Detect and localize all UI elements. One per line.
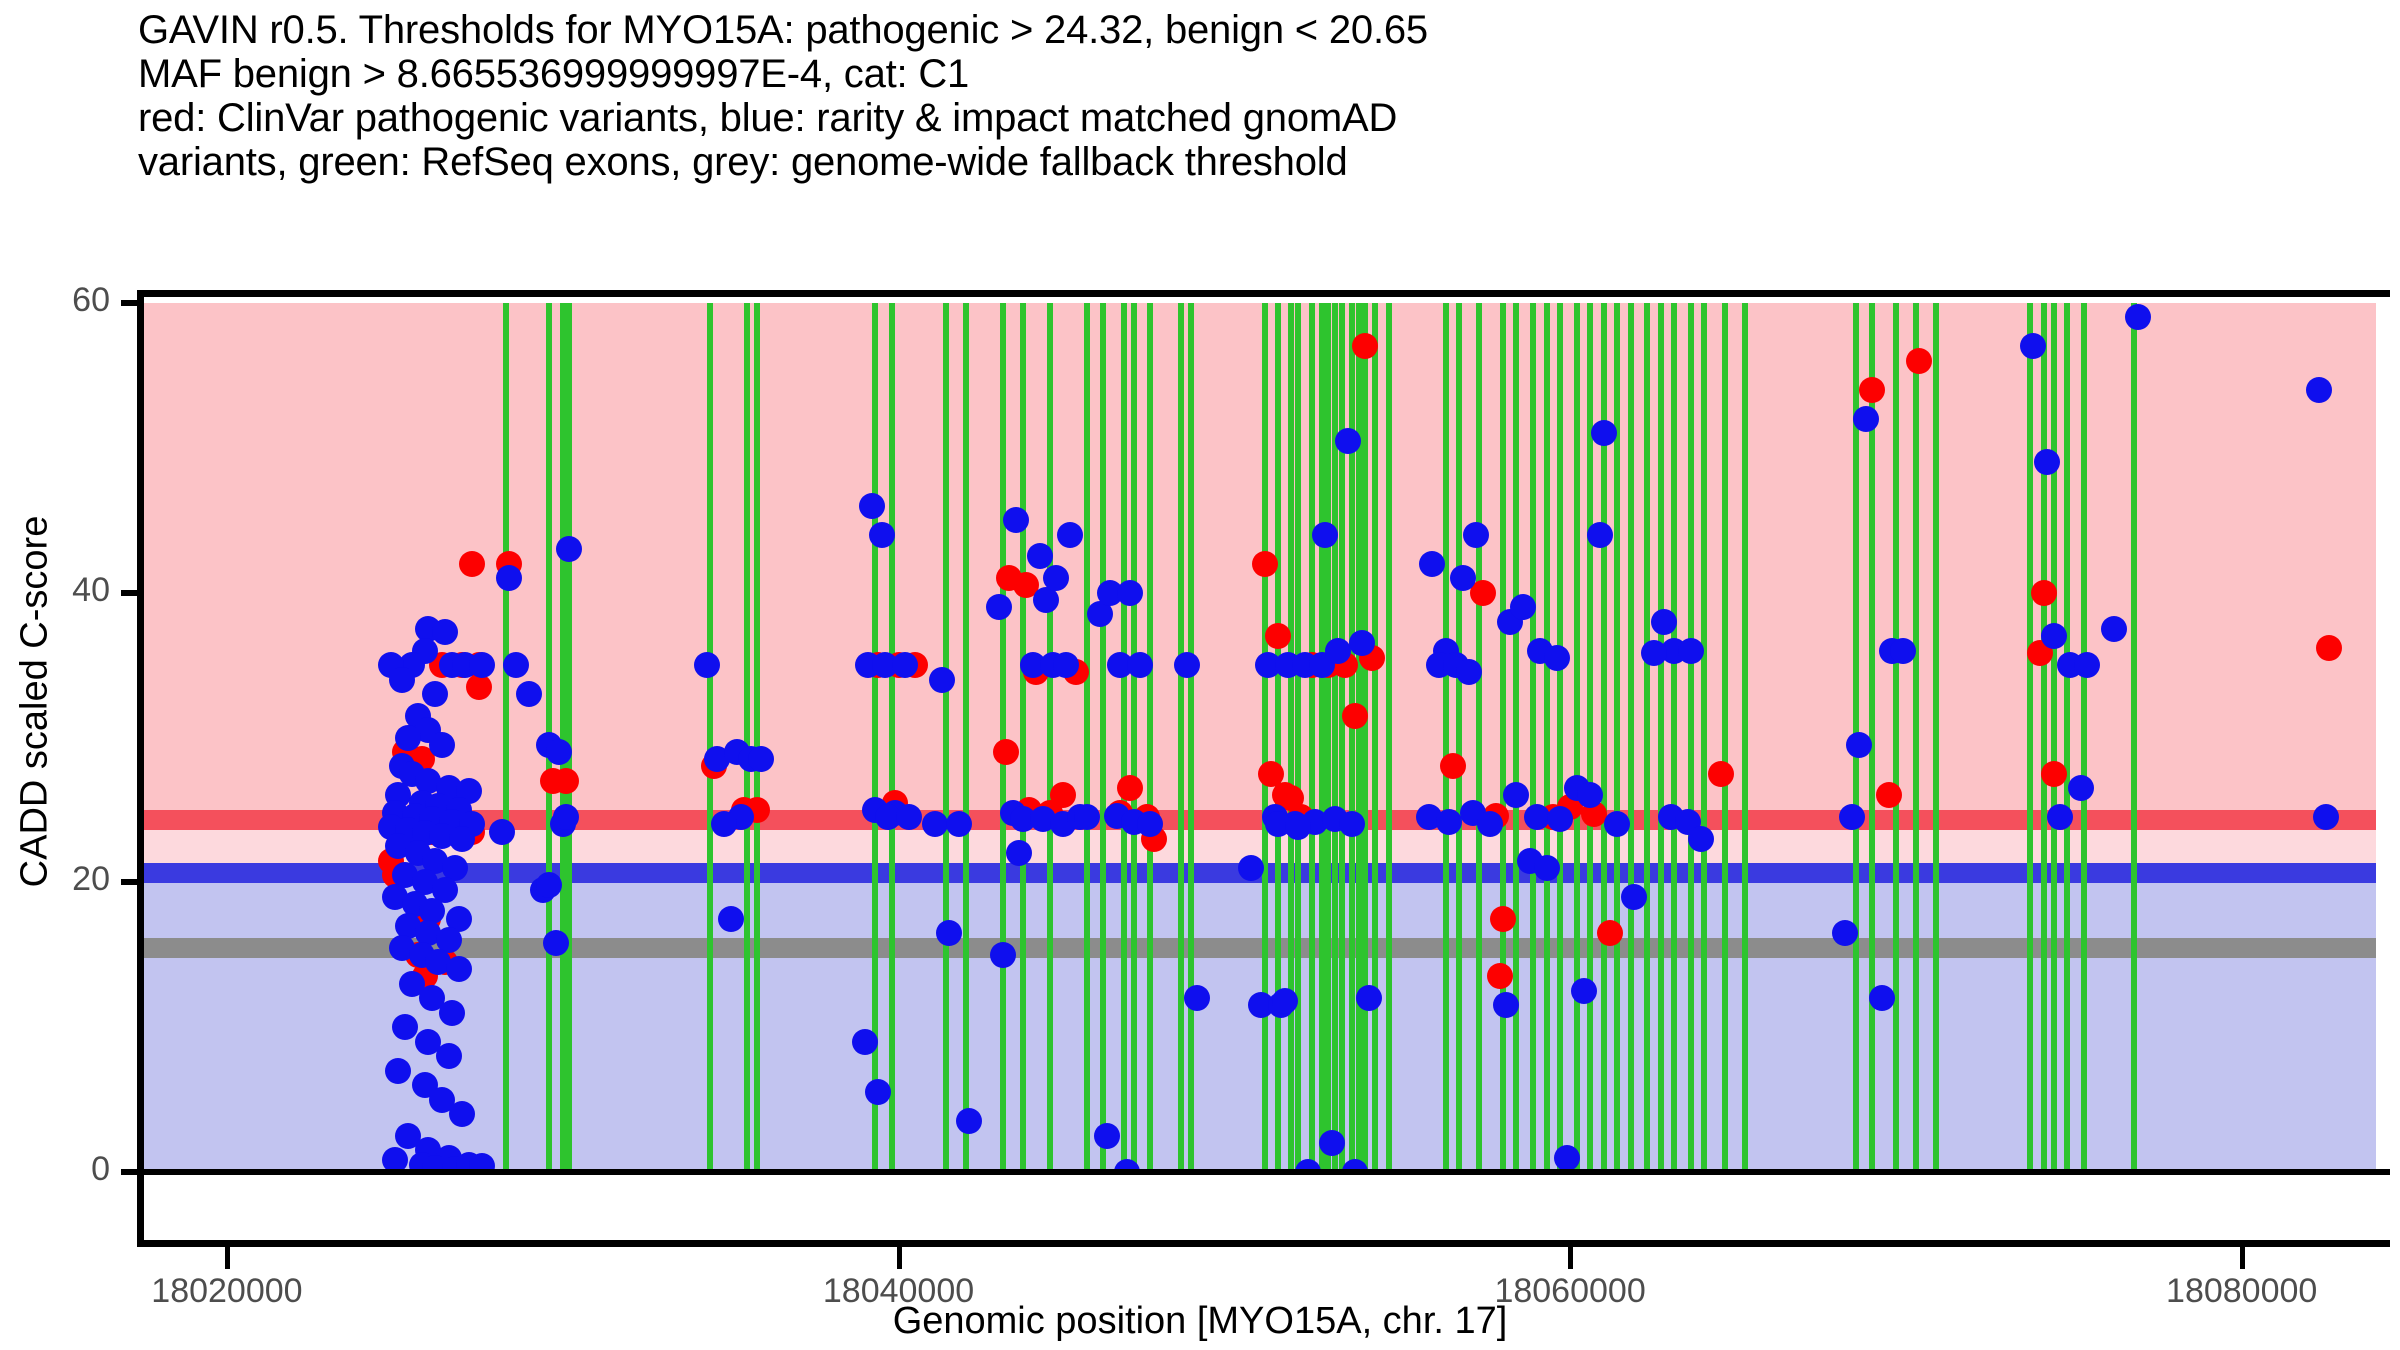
gnomad-variant-point (869, 522, 895, 548)
refseq-exon-line (943, 303, 949, 1172)
gnomad-variant-point (1846, 732, 1872, 758)
gnomad-variant-point (1335, 428, 1361, 454)
refseq-exon-line (1544, 303, 1550, 1172)
gnomad-variant-point (2041, 623, 2067, 649)
clinvar-pathogenic-point (1342, 703, 1368, 729)
refseq-exon-line (1456, 303, 1462, 1172)
gnomad-variant-point (1554, 1145, 1580, 1171)
clinvar-pathogenic-point (993, 739, 1019, 765)
gnomad-variant-point (392, 1014, 418, 1040)
refseq-exon-line (503, 303, 509, 1172)
refseq-exon-line (1319, 303, 1325, 1172)
x-axis-tick (1568, 1247, 1573, 1269)
gnomad-variant-point (1319, 1130, 1345, 1156)
gnomad-variant-point (496, 565, 522, 591)
refseq-exon-line (1100, 303, 1106, 1172)
clinvar-pathogenic-point (2316, 635, 2342, 661)
refseq-exon-line (707, 303, 713, 1172)
title-line-4: variants, green: RefSeq exons, grey: gen… (138, 140, 2288, 184)
gnomad-variant-point (1463, 522, 1489, 548)
refseq-exon-line (2064, 303, 2070, 1172)
refseq-exon-line (1275, 303, 1281, 1172)
refseq-exon-line (1513, 303, 1519, 1172)
y-axis-tick (121, 1169, 143, 1175)
refseq-exon-line (963, 303, 969, 1172)
gnomad-variant-point (1890, 638, 1916, 664)
clinvar-pathogenic-point (2041, 761, 2067, 787)
x-axis-tick (225, 1247, 230, 1269)
gnomad-variant-point (1356, 985, 1382, 1011)
refseq-exon-line (1671, 303, 1677, 1172)
refseq-exon-line (560, 303, 566, 1172)
gnomad-variant-point (2125, 304, 2151, 330)
clinvar-pathogenic-point (1708, 761, 1734, 787)
gnomad-variant-point (1074, 804, 1100, 830)
gnomad-variant-point (1450, 565, 1476, 591)
refseq-exon-line (1188, 303, 1194, 1172)
gnomad-variant-point (432, 619, 458, 645)
y-axis-line (137, 290, 144, 1185)
gnomad-variant-point (1094, 1123, 1120, 1149)
x-axis-tick (2240, 1247, 2245, 1269)
refseq-exon-line (1722, 303, 1728, 1172)
gnomad-variant-point (429, 732, 455, 758)
clinvar-pathogenic-point (553, 768, 579, 794)
clinvar-pathogenic-point (1440, 753, 1466, 779)
gnomad-variant-point (503, 652, 529, 678)
gnomad-variant-point (439, 1000, 465, 1026)
x-axis-left-drop (137, 1169, 144, 1247)
gnomad-variant-point (936, 920, 962, 946)
gnomad-variant-point (543, 930, 569, 956)
gnomad-variant-point (1419, 551, 1445, 577)
chart-title: GAVIN r0.5. Thresholds for MYO15A: patho… (138, 8, 2288, 184)
gnomad-variant-point (1591, 420, 1617, 446)
gnomad-variant-point (449, 826, 475, 852)
y-axis-tick (121, 879, 143, 885)
gnomad-variant-point (1571, 978, 1597, 1004)
gnomad-variant-point (852, 1029, 878, 1055)
refseq-exon-line (1020, 303, 1026, 1172)
refseq-exon-line (2051, 303, 2057, 1172)
refseq-exon-line (1701, 303, 1707, 1172)
x-axis-line (137, 1240, 2390, 1247)
refseq-exon-line (2131, 303, 2137, 1172)
refseq-exon-line (566, 303, 572, 1172)
refseq-exon-line (1628, 303, 1634, 1172)
gnomad-variant-point (1436, 809, 1462, 835)
title-line-3: red: ClinVar pathogenic variants, blue: … (138, 96, 2288, 140)
clinvar-pathogenic-point (1487, 963, 1513, 989)
refseq-exon-line (2081, 303, 2087, 1172)
gnomad-variant-point (2101, 616, 2127, 642)
refseq-exon-line (1121, 303, 1127, 1172)
chart-root: GAVIN r0.5. Thresholds for MYO15A: patho… (0, 0, 2400, 1350)
refseq-exon-line (1658, 303, 1664, 1172)
gnomad-variant-point (1534, 855, 1560, 881)
clinvar-pathogenic-point (1265, 623, 1291, 649)
refseq-exon-line (889, 303, 895, 1172)
gnomad-variant-point (422, 681, 448, 707)
gnomad-variant-point (446, 956, 472, 982)
refseq-exon-line (1913, 303, 1919, 1172)
gnomad-variant-point (1272, 988, 1298, 1014)
gnomad-variant-point (718, 906, 744, 932)
refseq-exon-line (1147, 303, 1153, 1172)
y-axis-tick (121, 590, 143, 596)
gnomad-variant-point (2306, 377, 2332, 403)
x-axis-tick (897, 1247, 902, 1269)
refseq-exon-line (1295, 303, 1301, 1172)
refseq-exon-line (1178, 303, 1184, 1172)
refseq-exon-line (1372, 303, 1378, 1172)
refseq-exon-line (2041, 303, 2047, 1172)
clinvar-pathogenic-point (1490, 906, 1516, 932)
refseq-exon-line (744, 303, 750, 1172)
refseq-exon-line (1574, 303, 1580, 1172)
plot-top-rule (137, 290, 2390, 297)
gnomad-variant-point (1587, 522, 1613, 548)
clinvar-pathogenic-point (2031, 580, 2057, 606)
refseq-exon-line (1288, 303, 1294, 1172)
refseq-exon-line (1500, 303, 1506, 1172)
refseq-exon-line (1530, 303, 1536, 1172)
y-axis-tick-label: 0 (0, 1150, 110, 1189)
gnomad-variant-point (1477, 811, 1503, 837)
refseq-exon-line (1476, 303, 1482, 1172)
title-line-1: GAVIN r0.5. Thresholds for MYO15A: patho… (138, 8, 2288, 52)
y-axis-title: CADD scaled C-score (14, 322, 57, 1082)
refseq-exon-line (1688, 303, 1694, 1172)
plot-canvas (143, 303, 2376, 1172)
clinvar-pathogenic-point (459, 551, 485, 577)
refseq-exon-line (1557, 303, 1563, 1172)
gnomad-variant-point (1544, 645, 1570, 671)
y-axis-tick (121, 300, 143, 306)
gnomad-variant-point (2313, 804, 2339, 830)
gnomad-variant-point (1688, 826, 1714, 852)
refseq-exon-line (1084, 303, 1090, 1172)
gnomad-variant-point (859, 493, 885, 519)
gnomad-variant-point (1325, 638, 1351, 664)
refseq-exon-line (754, 303, 760, 1172)
gnomad-variant-point (1027, 543, 1053, 569)
gnomad-variant-point (1238, 855, 1264, 881)
gnomad-variant-point (1057, 522, 1083, 548)
refseq-exon-line (1309, 303, 1315, 1172)
refseq-exon-line (1386, 303, 1392, 1172)
refseq-exon-line (1644, 303, 1650, 1172)
gnomad-variant-point (1117, 580, 1143, 606)
gnomad-variant-point (929, 667, 955, 693)
title-line-2: MAF benign > 8.665536999999997E-4, cat: … (138, 52, 2288, 96)
refseq-exon-line (1000, 303, 1006, 1172)
gnomad-variant-point (896, 804, 922, 830)
gnomad-variant-point (1524, 804, 1550, 830)
gnomad-variant-point (1678, 638, 1704, 664)
gnomad-variant-point (990, 942, 1016, 968)
gnomad-variant-point (1853, 406, 1879, 432)
refseq-exon-line (1742, 303, 1748, 1172)
gnomad-variant-point (489, 819, 515, 845)
gnomad-variant-point (395, 725, 421, 751)
gnomad-variant-point (1651, 609, 1677, 635)
gnomad-variant-point (449, 1101, 475, 1127)
gnomad-variant-point (385, 1058, 411, 1084)
refseq-exon-line (2027, 303, 2033, 1172)
refseq-exon-line (1933, 303, 1939, 1172)
refseq-exon-line (1893, 303, 1899, 1172)
refseq-exon-line (1262, 303, 1268, 1172)
clinvar-pathogenic-point (1252, 551, 1278, 577)
refseq-exon-line (1131, 303, 1137, 1172)
gnomad-variant-point (1621, 884, 1647, 910)
gnomad-variant-point (1312, 522, 1338, 548)
y-axis-tick-label: 60 (0, 281, 110, 320)
refseq-exon-line (1362, 303, 1368, 1172)
refseq-exon-line (1443, 303, 1449, 1172)
refseq-exon-line (1325, 303, 1331, 1172)
gnomad-variant-point (2068, 775, 2094, 801)
refseq-exon-line (1047, 303, 1053, 1172)
x-zero-rule (137, 1169, 2390, 1175)
x-axis-title: Genomic position [MYO15A, chr. 17] (0, 1300, 2400, 1343)
gnomad-variant-point (436, 1043, 462, 1069)
gnomad-variant-point (389, 667, 415, 693)
gnomad-variant-point (1547, 806, 1573, 832)
gnomad-variant-point (748, 746, 774, 772)
